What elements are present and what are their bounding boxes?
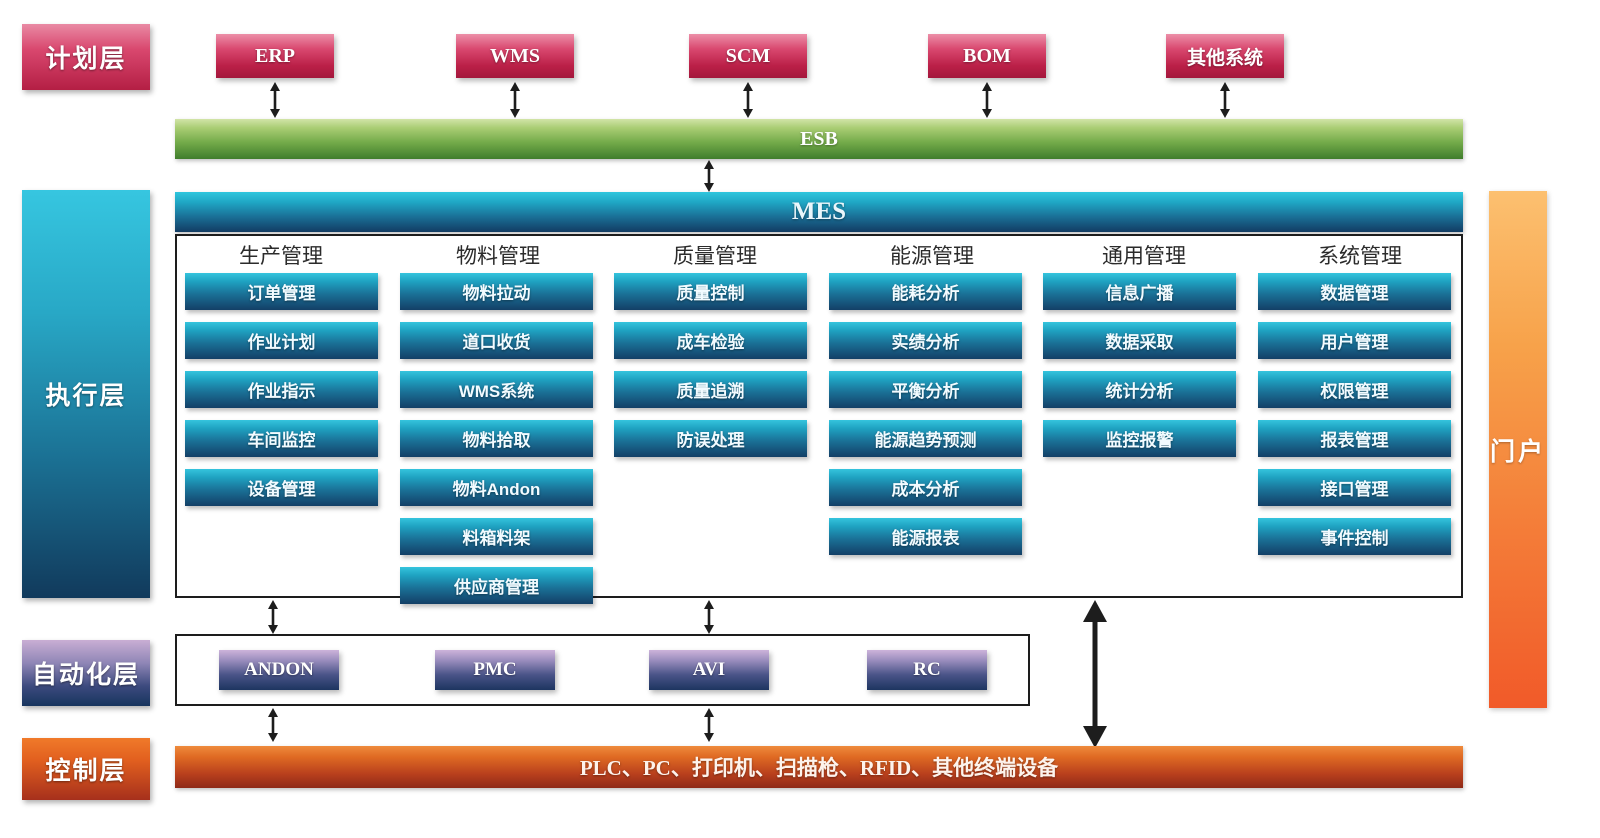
mes-module-box[interactable]: 订单管理 [185,273,378,310]
mes-column-title: 能源管理 [842,240,1022,270]
mes-module-box[interactable]: 能源报表 [829,518,1022,555]
mes-module-box[interactable]: 供应商管理 [400,567,593,604]
mes-module-box[interactable]: 成车检验 [614,322,807,359]
mes-module-label: 作业计划 [248,328,316,353]
mes-module-box[interactable]: 事件控制 [1258,518,1451,555]
planning-system-chip[interactable]: SCM [689,34,807,78]
mes-module-label: 设备管理 [248,475,316,500]
planning-system-label: 其他系统 [1187,43,1263,70]
planning-system-label: SCM [726,45,770,68]
mes-module-label: 信息广播 [1106,279,1174,304]
mes-module-label: 报表管理 [1321,426,1389,451]
mes-module-label: 物料拾取 [463,426,531,451]
mes-module-box[interactable]: 平衡分析 [829,371,1022,408]
mes-module-label: 接口管理 [1321,475,1389,500]
esb-mes-arrow [702,160,716,192]
planning-esb-arrow [268,82,282,118]
mes-module-box[interactable]: 作业指示 [185,371,378,408]
mes-column-title: 通用管理 [1054,240,1234,270]
layer-tag-planning-label: 计划层 [45,39,126,75]
automation-system-chip[interactable]: PMC [435,650,555,690]
mes-module-box[interactable]: 成本分析 [829,469,1022,506]
mes-module-box[interactable]: 能耗分析 [829,273,1022,310]
planning-system-chip[interactable]: BOM [928,34,1046,78]
layer-tag-control: 控制层 [22,738,150,800]
automation-system-label: ANDON [244,659,314,681]
mes-column-title: 生产管理 [191,240,371,270]
planning-system-label: WMS [490,45,540,68]
mes-module-box[interactable]: WMS系统 [400,371,593,408]
portal-bar: 门户 [1489,191,1547,708]
mes-module-label: 成本分析 [892,475,960,500]
mes-module-label: 供应商管理 [454,573,539,598]
mes-module-box[interactable]: 能源趋势预测 [829,420,1022,457]
layer-tag-execution-label: 执行层 [45,376,126,412]
mes-label: MES [792,198,846,226]
mes-module-box[interactable]: 车间监控 [185,420,378,457]
planning-system-label: ERP [255,45,295,68]
mes-module-box[interactable]: 质量追溯 [614,371,807,408]
mes-module-label: 质量追溯 [677,377,745,402]
mes-module-label: 统计分析 [1106,377,1174,402]
layer-tag-execution: 执行层 [22,190,150,598]
mes-module-label: 数据采取 [1106,328,1174,353]
mes-module-label: 能源趋势预测 [875,426,977,451]
control-devices-label: PLC、PC、打印机、扫描枪、RFID、其他终端设备 [580,752,1058,782]
esb-label: ESB [800,128,838,151]
mes-module-box[interactable]: 物料Andon [400,469,593,506]
mes-module-label: 权限管理 [1321,377,1389,402]
automation-control-arrow-left [266,708,280,742]
mes-module-label: 防误处理 [677,426,745,451]
mes-module-label: 料箱料架 [463,524,531,549]
automation-system-label: RC [913,659,940,681]
mes-module-label: 监控报警 [1106,426,1174,451]
automation-systems-group: ANDONPMCAVIRC [177,636,1028,704]
planning-system-label: BOM [963,45,1011,68]
mes-automation-arrow-left [266,600,280,634]
portal-label: 门户 [1490,432,1546,468]
mes-control-arrow [1080,600,1110,748]
automation-system-label: AVI [693,659,725,681]
mes-module-label: 物料拉动 [463,279,531,304]
layer-tag-automation: 自动化层 [22,640,150,706]
mes-module-container: 生产管理订单管理作业计划作业指示车间监控设备管理物料管理物料拉动道口收货WMS系… [175,234,1463,598]
mes-module-label: 作业指示 [248,377,316,402]
layer-tag-automation-label: 自动化层 [32,655,140,691]
mes-module-box[interactable]: 数据采取 [1043,322,1236,359]
planning-system-chip[interactable]: 其他系统 [1166,34,1284,78]
planning-system-chip[interactable]: WMS [456,34,574,78]
mes-module-box[interactable]: 权限管理 [1258,371,1451,408]
mes-module-label: WMS系统 [459,377,535,402]
planning-esb-arrow [508,82,522,118]
planning-esb-arrow [980,82,994,118]
planning-esb-arrow [741,82,755,118]
mes-module-box[interactable]: 物料拾取 [400,420,593,457]
automation-container: ANDONPMCAVIRC [175,634,1030,706]
automation-system-chip[interactable]: AVI [649,650,769,690]
mes-module-box[interactable]: 设备管理 [185,469,378,506]
mes-module-box[interactable]: 统计分析 [1043,371,1236,408]
mes-columns: 生产管理订单管理作业计划作业指示车间监控设备管理物料管理物料拉动道口收货WMS系… [177,236,1461,596]
mes-module-box[interactable]: 物料拉动 [400,273,593,310]
automation-control-arrow-middle [702,708,716,742]
planning-system-chip[interactable]: ERP [216,34,334,78]
mes-module-box[interactable]: 用户管理 [1258,322,1451,359]
mes-module-label: 能源报表 [892,524,960,549]
esb-bar: ESB [175,119,1463,159]
mes-module-box[interactable]: 防误处理 [614,420,807,457]
mes-column-title: 物料管理 [408,240,588,270]
mes-module-label: 物料Andon [453,475,541,500]
mes-column-title: 系统管理 [1270,240,1450,270]
mes-module-label: 实绩分析 [892,328,960,353]
planning-esb-arrow [1218,82,1232,118]
automation-system-chip[interactable]: RC [867,650,987,690]
mes-module-box[interactable]: 实绩分析 [829,322,1022,359]
mes-module-box[interactable]: 料箱料架 [400,518,593,555]
mes-bar: MES [175,192,1463,232]
mes-column-title: 质量管理 [625,240,805,270]
mes-module-label: 道口收货 [463,328,531,353]
layer-tag-control-label: 控制层 [45,751,126,787]
layer-tag-planning: 计划层 [22,24,150,90]
mes-module-box[interactable]: 质量控制 [614,273,807,310]
mes-module-label: 平衡分析 [892,377,960,402]
mes-module-box[interactable]: 作业计划 [185,322,378,359]
mes-module-box[interactable]: 报表管理 [1258,420,1451,457]
mes-module-label: 事件控制 [1321,524,1389,549]
mes-module-label: 质量控制 [677,279,745,304]
mes-module-label: 数据管理 [1321,279,1389,304]
mes-module-box[interactable]: 监控报警 [1043,420,1236,457]
mes-module-label: 用户管理 [1321,328,1389,353]
mes-module-box[interactable]: 信息广播 [1043,273,1236,310]
architecture-diagram: 计划层 执行层 自动化层 控制层 门户 ERPWMSSCMBOM其他系统 ESB… [0,0,1600,838]
mes-module-box[interactable]: 接口管理 [1258,469,1451,506]
mes-automation-arrow-middle [702,600,716,634]
mes-module-label: 订单管理 [248,279,316,304]
automation-system-chip[interactable]: ANDON [219,650,339,690]
mes-module-box[interactable]: 道口收货 [400,322,593,359]
mes-module-label: 能耗分析 [892,279,960,304]
mes-module-label: 成车检验 [677,328,745,353]
mes-module-label: 车间监控 [248,426,316,451]
automation-system-label: PMC [473,659,516,681]
control-devices-bar: PLC、PC、打印机、扫描枪、RFID、其他终端设备 [175,746,1463,788]
mes-module-box[interactable]: 数据管理 [1258,273,1451,310]
